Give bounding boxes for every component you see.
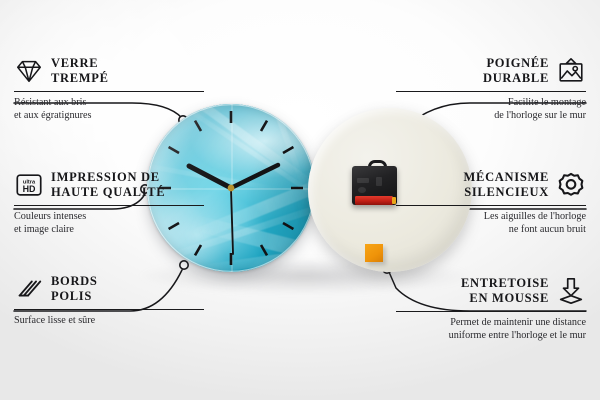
ultra-hd-badge-icon: ultra HD bbox=[14, 170, 44, 200]
feature-title: POIGNÉE DURABLE bbox=[483, 56, 549, 87]
feature-description: Couleurs intenses et image claire bbox=[14, 210, 204, 237]
foam-spacer bbox=[365, 244, 383, 262]
feature-title: VERRE TREMPÉ bbox=[51, 56, 109, 87]
feature-entretoise-en-mousse: ENTRETOISE EN MOUSSE Permet de maintenir… bbox=[396, 276, 586, 342]
clock-mechanism bbox=[352, 160, 397, 205]
divider bbox=[14, 309, 204, 310]
divider bbox=[396, 91, 586, 92]
feature-title: ENTRETOISE EN MOUSSE bbox=[461, 276, 549, 307]
feature-title: BORDS POLIS bbox=[51, 274, 98, 305]
feature-bords-polis: BORDS POLIS Surface lisse et sûre bbox=[14, 274, 204, 327]
title-line-2: EN MOUSSE bbox=[461, 291, 549, 306]
title-line-2: POLIS bbox=[51, 289, 98, 304]
feature-description: Les aiguilles de l'horloge ne font aucun… bbox=[396, 210, 586, 237]
diamond-icon bbox=[14, 56, 44, 86]
foam-spacer-arrow-icon bbox=[556, 276, 586, 306]
feature-poignee-durable: POIGNÉE DURABLE Facilite le montage de l… bbox=[396, 56, 586, 122]
divider bbox=[14, 91, 204, 92]
title-line-1: ENTRETOISE bbox=[461, 276, 549, 291]
desc-line-2: de l'horloge sur le mur bbox=[396, 109, 586, 122]
desc-line-1: Les aiguilles de l'horloge bbox=[396, 210, 586, 223]
divider bbox=[14, 205, 204, 206]
desc-line-1: Surface lisse et sûre bbox=[14, 314, 204, 327]
desc-line-2: et image claire bbox=[14, 223, 204, 236]
mechanism-body bbox=[352, 166, 397, 205]
feature-description: Résistant aux bris et aux égratignures bbox=[14, 96, 204, 123]
title-line-1: MÉCANISME bbox=[464, 170, 549, 185]
title-line-2: TREMPÉ bbox=[51, 71, 109, 86]
battery bbox=[355, 196, 393, 205]
title-line-2: SILENCIEUX bbox=[464, 185, 549, 200]
divider bbox=[396, 311, 586, 312]
title-line-1: POIGNÉE bbox=[483, 56, 549, 71]
feature-description: Surface lisse et sûre bbox=[14, 314, 204, 327]
desc-line-2: ne font aucun bruit bbox=[396, 223, 586, 236]
badge-label-bottom: HD bbox=[23, 184, 36, 194]
title-line-2: DURABLE bbox=[483, 71, 549, 86]
title-line-2: HAUTE QUALITÉ bbox=[51, 185, 165, 200]
gear-icon bbox=[556, 170, 586, 200]
feature-impression-haute-qualite: ultra HD IMPRESSION DE HAUTE QUALITÉ Cou… bbox=[14, 170, 204, 236]
feature-description: Facilite le montage de l'horloge sur le … bbox=[396, 96, 586, 123]
divider bbox=[396, 205, 586, 206]
title-line-1: BORDS bbox=[51, 274, 98, 289]
polished-edges-icon bbox=[14, 274, 44, 304]
desc-line-1: Résistant aux bris bbox=[14, 96, 204, 109]
infographic-canvas: VERRE TREMPÉ Résistant aux bris et aux é… bbox=[0, 0, 600, 400]
title-line-1: VERRE bbox=[51, 56, 109, 71]
desc-line-1: Couleurs intenses bbox=[14, 210, 204, 223]
feature-title: IMPRESSION DE HAUTE QUALITÉ bbox=[51, 170, 165, 201]
feature-title: MÉCANISME SILENCIEUX bbox=[464, 170, 549, 201]
title-line-1: IMPRESSION DE bbox=[51, 170, 165, 185]
desc-line-2: uniforme entre l'horloge et le mur bbox=[396, 329, 586, 342]
feature-mecanisme-silencieux: MÉCANISME SILENCIEUX Les aiguilles de l'… bbox=[396, 170, 586, 236]
desc-line-1: Permet de maintenir une distance bbox=[396, 316, 586, 329]
hanging-frame-icon bbox=[556, 56, 586, 86]
desc-line-1: Facilite le montage bbox=[396, 96, 586, 109]
feature-description: Permet de maintenir une distance uniform… bbox=[396, 316, 586, 343]
feature-verre-trempe: VERRE TREMPÉ Résistant aux bris et aux é… bbox=[14, 56, 204, 122]
desc-line-2: et aux égratignures bbox=[14, 109, 204, 122]
